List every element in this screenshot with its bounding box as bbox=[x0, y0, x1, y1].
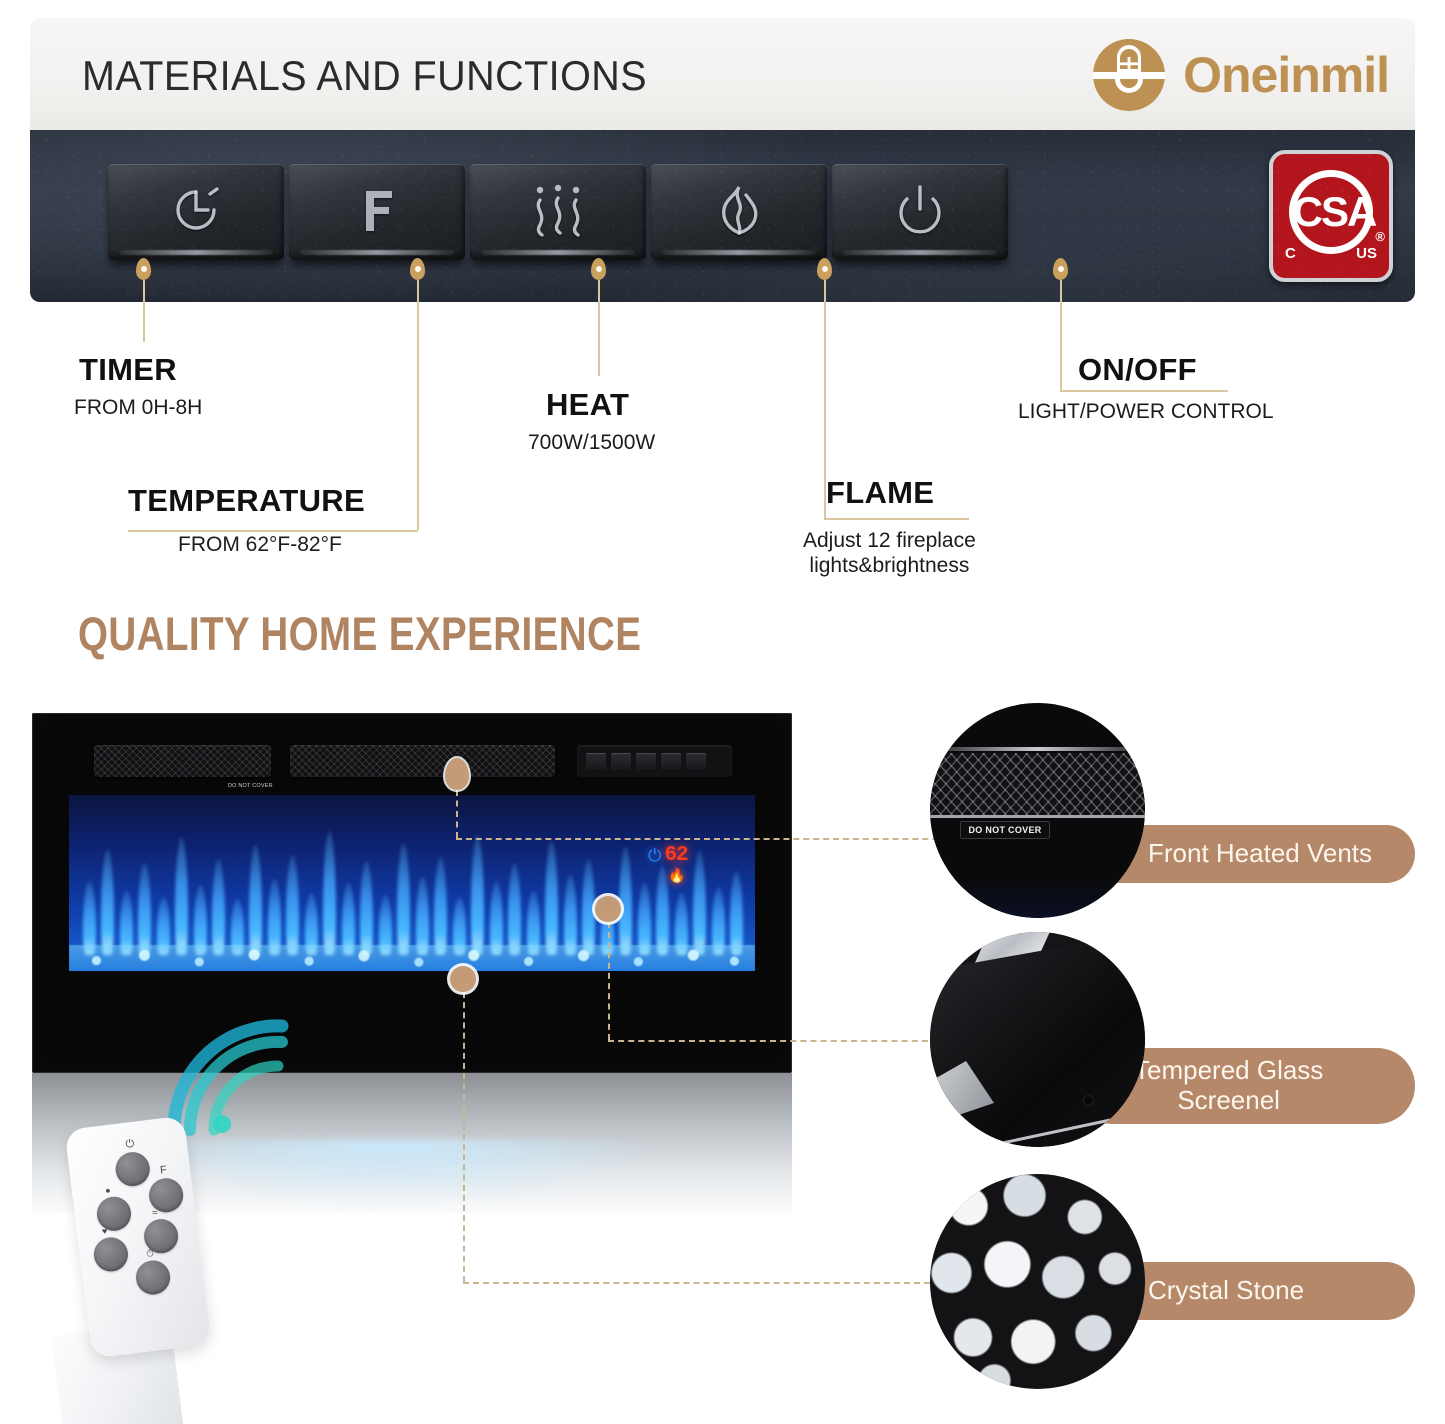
remote-heat-label: ≈ bbox=[152, 1207, 159, 1219]
csa-certification-badge: CSA ® C US bbox=[1269, 150, 1393, 282]
flame-display-window bbox=[69, 795, 755, 971]
csa-region-c: C bbox=[1285, 245, 1296, 262]
remote-faceplate: ⏻ F ● ≈ ♥ ⏱ bbox=[64, 1116, 211, 1359]
lead-temperature-underline bbox=[128, 530, 418, 532]
callout-sub-temperature: FROM 62°F-82°F bbox=[178, 533, 342, 557]
callout-title-temperature: TEMPERATURE bbox=[128, 483, 365, 519]
lead-onoff bbox=[1060, 280, 1062, 390]
vent-warning-label: DO NOT COVER bbox=[228, 783, 273, 789]
page-header: MATERIALS AND FUNCTIONS Oneinmil bbox=[30, 18, 1415, 130]
brand-name: Oneinmil bbox=[1183, 46, 1389, 104]
led-temperature-value: 62 bbox=[664, 845, 687, 866]
csa-mark: CSA ® bbox=[1289, 170, 1373, 254]
dash-crystal-v bbox=[463, 992, 465, 1282]
timer-key[interactable] bbox=[108, 164, 284, 260]
power-icon: ⏻ bbox=[648, 847, 661, 864]
lead-flame bbox=[824, 280, 826, 518]
callout-title-onoff: ON/OFF bbox=[1078, 352, 1197, 388]
remote-fahrenheit-label: F bbox=[159, 1164, 167, 1177]
fireplace-unit-photo: DO NOT COVER bbox=[32, 713, 792, 1073]
dash-vents-h bbox=[456, 838, 968, 840]
lead-heat bbox=[598, 280, 600, 376]
detail-tempered-glass bbox=[930, 932, 1145, 1147]
temperature-key[interactable] bbox=[289, 164, 465, 260]
do-not-cover-badge: DO NOT COVER bbox=[968, 825, 1041, 835]
lead-temperature bbox=[417, 280, 419, 530]
timer-icon bbox=[165, 179, 227, 246]
section-heading-quality-home: QUALITY HOME EXPERIENCE bbox=[78, 606, 641, 661]
flame-icon: 🔥 bbox=[668, 868, 685, 882]
pin-crystal-stone bbox=[450, 966, 476, 992]
fahrenheit-icon bbox=[346, 179, 408, 246]
callout-title-timer: TIMER bbox=[79, 352, 177, 388]
pin-tempered-glass bbox=[595, 896, 621, 922]
control-panel-photo: CSA ® C US bbox=[30, 130, 1415, 302]
heat-key[interactable] bbox=[470, 164, 646, 260]
wifi-signal-icon bbox=[160, 1012, 310, 1137]
vent-left bbox=[94, 745, 271, 777]
csa-region-us: US bbox=[1356, 245, 1377, 262]
remote-clock-label: ⏱ bbox=[146, 1248, 155, 1260]
dash-glass-h bbox=[608, 1040, 938, 1042]
power-key[interactable] bbox=[832, 164, 1008, 260]
pin-timer bbox=[136, 258, 151, 280]
remote-power-button[interactable] bbox=[114, 1150, 152, 1188]
flame-key[interactable] bbox=[651, 164, 827, 260]
vent-center bbox=[290, 745, 555, 777]
remote-power-label: ⏻ bbox=[125, 1138, 135, 1152]
remote-flame-label: ♥ bbox=[101, 1226, 108, 1237]
lead-onoff-underline bbox=[1060, 390, 1228, 392]
remote-control[interactable]: ⏻ F ● ≈ ♥ ⏱ bbox=[78, 1122, 210, 1424]
infographic-page: MATERIALS AND FUNCTIONS Oneinmil bbox=[0, 0, 1445, 1424]
callout-sub-flame: Adjust 12 fireplace lights&brightness bbox=[803, 529, 976, 579]
lead-timer bbox=[143, 280, 145, 342]
led-status-display: ⏻ 62 🔥 bbox=[648, 845, 688, 882]
remote-flame-button[interactable] bbox=[92, 1235, 130, 1273]
callout-sub-heat: 700W/1500W bbox=[528, 431, 655, 455]
remote-timer-label: ● bbox=[104, 1185, 111, 1196]
pin-front-vents bbox=[445, 758, 469, 790]
power-icon bbox=[889, 179, 951, 246]
crystal-bed bbox=[69, 945, 755, 971]
pin-temperature bbox=[410, 258, 425, 280]
page-title: MATERIALS AND FUNCTIONS bbox=[82, 52, 647, 100]
callout-sub-onoff: LIGHT/POWER CONTROL bbox=[1018, 400, 1274, 424]
detail-crystal-stone bbox=[930, 1174, 1145, 1389]
dash-glass-v bbox=[608, 922, 610, 1040]
vent-right-with-buttons[interactable] bbox=[577, 745, 732, 777]
callout-title-flame: FLAME bbox=[826, 475, 934, 511]
pin-heat bbox=[591, 258, 606, 280]
brand-logo: Oneinmil bbox=[1089, 32, 1389, 118]
remote-clock-button[interactable] bbox=[134, 1259, 172, 1297]
heat-waves-icon bbox=[524, 181, 592, 244]
csa-mark-text: CSA bbox=[1289, 170, 1373, 254]
callout-title-heat: HEAT bbox=[546, 387, 629, 423]
window-arch-logo-icon bbox=[1089, 35, 1169, 115]
callout-sub-timer: FROM 0H-8H bbox=[74, 396, 202, 420]
pin-flame bbox=[817, 258, 832, 280]
detail-front-heated-vents: DO NOT COVER bbox=[930, 703, 1145, 918]
lead-flame-underline bbox=[824, 518, 969, 520]
dash-crystal-h bbox=[463, 1282, 950, 1284]
pin-onoff bbox=[1053, 258, 1068, 280]
registered-symbol: ® bbox=[1375, 229, 1385, 244]
flame-icon bbox=[708, 179, 770, 246]
dash-vents-v1 bbox=[456, 790, 458, 838]
